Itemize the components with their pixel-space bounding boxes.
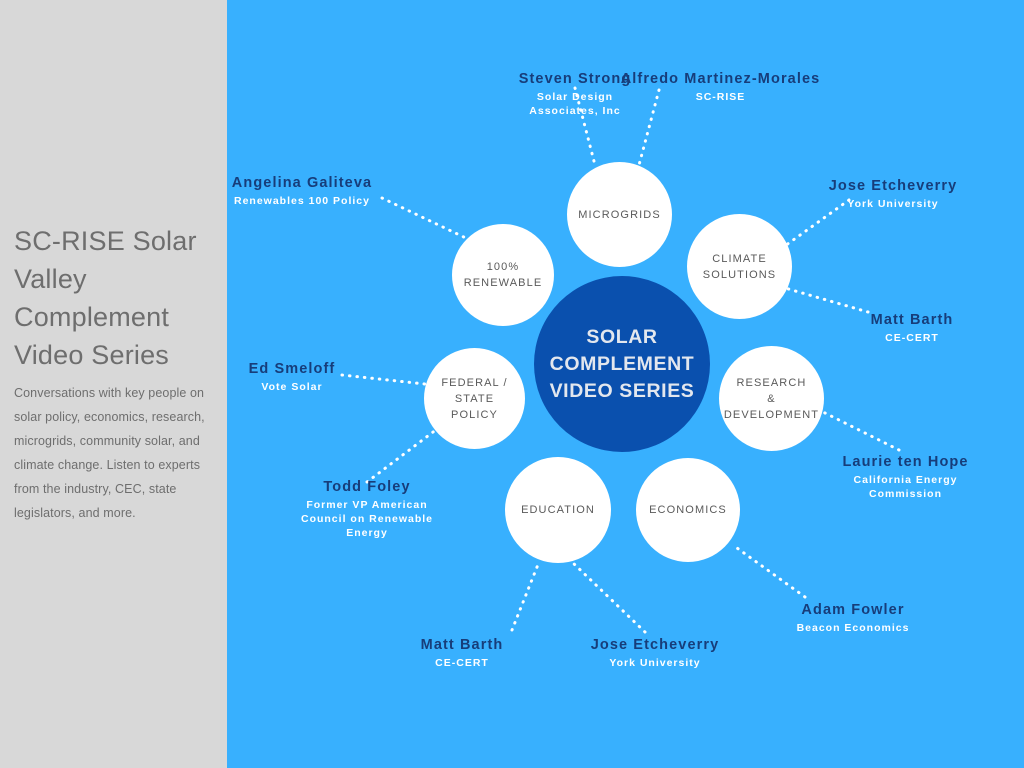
node-label-economics: ECONOMICS xyxy=(649,502,727,518)
connector-todd-foley xyxy=(367,423,445,482)
speaker-matt-barth-right[interactable]: Matt Barth CE-CERT xyxy=(787,311,1024,345)
speaker-org: Renewables 100 Policy xyxy=(227,194,462,208)
speaker-org: Beacon Economics xyxy=(728,621,978,635)
infographic-page: SC-RISE Solar Valley Complement Video Se… xyxy=(0,0,1024,768)
left-info-panel: SC-RISE Solar Valley Complement Video Se… xyxy=(0,0,227,768)
speaker-org: CE-CERT xyxy=(787,331,1024,345)
node-100-renewable[interactable]: 100% RENEWABLE xyxy=(452,224,554,326)
diagram-canvas: SOLAR COMPLEMENT VIDEO SERIES MICROGRIDS… xyxy=(227,0,1024,768)
speaker-org: Former VP American Council on Renewable … xyxy=(227,498,517,540)
connector-matt-bottom xyxy=(512,562,539,630)
speaker-angelina-galiteva[interactable]: Angelina Galiteva Renewables 100 Policy xyxy=(227,174,462,208)
speaker-name: Angelina Galiteva xyxy=(227,174,462,193)
page-description: Conversations with key people on solar p… xyxy=(14,381,214,525)
node-microgrids[interactable]: MICROGRIDS xyxy=(567,162,672,267)
speaker-name: Jose Etcheverry xyxy=(768,177,1018,196)
speaker-name: Adam Fowler xyxy=(728,601,978,620)
node-label-federal-state-policy: FEDERAL / STATE POLICY xyxy=(441,375,507,423)
hub-circle[interactable]: SOLAR COMPLEMENT VIDEO SERIES xyxy=(534,276,710,452)
speaker-org: Vote Solar xyxy=(227,380,407,394)
speaker-org: SC-RISE xyxy=(558,90,883,104)
speaker-alfredo-martinez-morales[interactable]: Alfredo Martinez-Morales SC-RISE xyxy=(558,70,883,104)
speaker-name: Laurie ten Hope xyxy=(787,453,1024,472)
speaker-name: Ed Smeloff xyxy=(227,360,407,379)
speaker-adam-fowler[interactable]: Adam Fowler Beacon Economics xyxy=(728,601,978,635)
page-title: SC-RISE Solar Valley Complement Video Se… xyxy=(14,222,219,374)
connector-laurie xyxy=(819,410,899,450)
speaker-org: California Energy Commission xyxy=(787,473,1024,501)
node-label-100-renewable: 100% RENEWABLE xyxy=(464,259,543,291)
node-research-development[interactable]: RESEARCH & DEVELOPMENT xyxy=(719,346,824,451)
speaker-jose-etcheverry-top[interactable]: Jose Etcheverry York University xyxy=(768,177,1018,211)
node-climate-solutions[interactable]: CLIMATE SOLUTIONS xyxy=(687,214,792,319)
connector-jose-bottom xyxy=(572,562,645,632)
speaker-name: Jose Etcheverry xyxy=(530,636,780,655)
node-label-climate-solutions: CLIMATE SOLUTIONS xyxy=(703,251,776,283)
speaker-jose-etcheverry-bottom[interactable]: Jose Etcheverry York University xyxy=(530,636,780,670)
speaker-name: Todd Foley xyxy=(227,478,517,497)
speaker-org: York University xyxy=(768,197,1018,211)
node-label-research-development: RESEARCH & DEVELOPMENT xyxy=(724,375,819,423)
connector-adam-fowler xyxy=(737,548,805,597)
speaker-org: York University xyxy=(530,656,780,670)
speaker-ed-smeloff[interactable]: Ed Smeloff Vote Solar xyxy=(227,360,407,394)
speaker-laurie-ten-hope[interactable]: Laurie ten Hope California Energy Commis… xyxy=(787,453,1024,501)
node-federal-state-policy[interactable]: FEDERAL / STATE POLICY xyxy=(424,348,525,449)
hub-label: SOLAR COMPLEMENT VIDEO SERIES xyxy=(550,324,695,405)
speaker-name: Matt Barth xyxy=(787,311,1024,330)
speaker-name: Alfredo Martinez-Morales xyxy=(558,70,883,89)
node-label-education: EDUCATION xyxy=(521,502,595,518)
connector-matt-right xyxy=(785,288,868,312)
node-economics[interactable]: ECONOMICS xyxy=(636,458,740,562)
node-education[interactable]: EDUCATION xyxy=(505,457,611,563)
node-label-microgrids: MICROGRIDS xyxy=(578,207,661,223)
speaker-todd-foley[interactable]: Todd Foley Former VP American Council on… xyxy=(227,478,517,540)
